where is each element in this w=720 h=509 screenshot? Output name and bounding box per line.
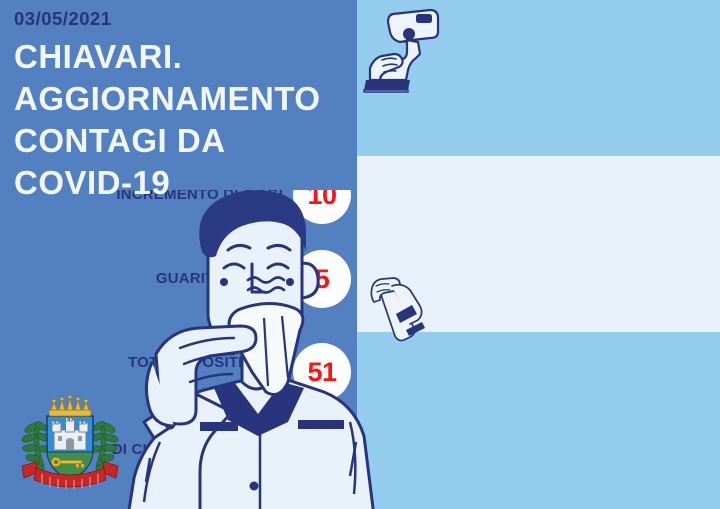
title-line-1: CHIAVARI. (14, 36, 359, 78)
date-label: 03/05/2021 (14, 8, 112, 30)
page-title: CHIAVARI. AGGIORNAMENTO CONTAGI DA COVID… (14, 36, 359, 204)
title-line-4: COVID-19 (14, 162, 359, 204)
thermometer-gun-icon (360, 2, 460, 94)
title-line-3: CONTAGI DA (14, 120, 359, 162)
covid-update-poster: TOTALE POSITIVI DI IERI 46 DI CUI OSPEDA… (0, 0, 720, 509)
man-sneezing-into-tissue-illustration (92, 186, 422, 509)
chiavari-coat-of-arms (14, 392, 126, 500)
title-line-2: AGGIORNAMENTO (14, 78, 359, 120)
